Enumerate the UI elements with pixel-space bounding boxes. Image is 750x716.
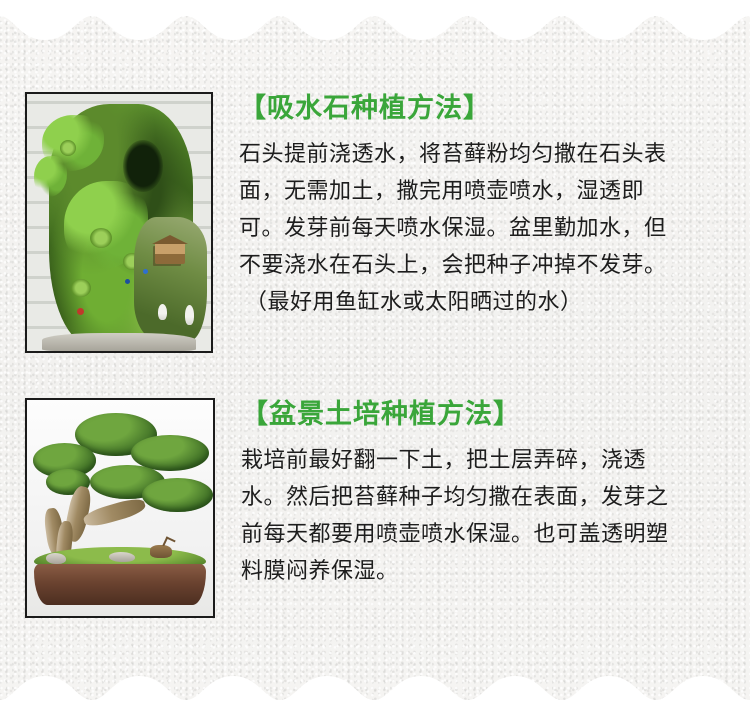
product-detail-page: 【吸水石种植方法】 石头提前浇透水，将苔藓粉均匀撒在石头表 面，无需加土，撒完用… — [0, 0, 750, 716]
miniature-figurine — [158, 304, 167, 320]
section-heading-absorbent-stone: 【吸水石种植方法】 — [239, 92, 725, 126]
section-bonsai-soil: 【盆景土培种植方法】 栽培前最好翻一下土，把土层弄碎，浇透 水。然后把苔藓种子均… — [25, 398, 725, 618]
photo-moss-stone — [25, 92, 213, 353]
body-line: 水。然后把苔藓种子均匀撒在表面，发芽之 — [241, 479, 725, 516]
red-accent-dot — [77, 308, 84, 315]
bonsai-pot — [34, 564, 205, 605]
body-line: （最好用鱼缸水或太阳晒过的水） — [239, 284, 725, 321]
body-line: 前每天都要用喷壶喷水保湿。也可盖透明塑 — [241, 516, 725, 553]
base-tray — [42, 333, 197, 351]
photo-bonsai — [25, 398, 215, 618]
photo-bonsai-content — [27, 400, 213, 616]
photo-moss-stone-content — [27, 94, 211, 351]
decorative-stone — [46, 553, 66, 564]
canopy-pad-right — [142, 478, 213, 513]
section-absorbent-stone: 【吸水石种植方法】 石头提前浇透水，将苔藓粉均匀撒在石头表 面，无需加土，撒完用… — [25, 92, 725, 353]
section-body-absorbent-stone: 石头提前浇透水，将苔藓粉均匀撒在石头表 面，无需加土，撒完用喷壶喷水，湿透即 可… — [239, 136, 725, 321]
section-body-bonsai-soil: 栽培前最好翻一下土，把土层弄碎，浇透 水。然后把苔藓种子均匀撒在表面，发芽之 前… — [241, 442, 725, 590]
body-line: 面，无需加土，撒完用喷壶喷水，湿透即 — [239, 173, 725, 210]
deer-figurine — [150, 545, 172, 558]
body-line: 石头提前浇透水，将苔藓粉均匀撒在石头表 — [239, 136, 725, 173]
text-column-absorbent-stone: 【吸水石种植方法】 石头提前浇透水，将苔藓粉均匀撒在石头表 面，无需加土，撒完用… — [213, 92, 725, 321]
miniature-house-figurine — [155, 242, 185, 264]
text-column-bonsai-soil: 【盆景土培种植方法】 栽培前最好翻一下土，把土层弄碎，浇透 水。然后把苔藓种子均… — [215, 398, 725, 590]
moss-fleck — [90, 228, 112, 248]
body-line: 料膜闷养保湿。 — [241, 553, 725, 590]
body-line: 可。发芽前每天喷水保湿。盆里勤加水，但 — [239, 210, 725, 247]
body-line: 不要浇水在石头上，会把种子冲掉不发芽。 — [239, 247, 725, 284]
decorative-stone — [109, 552, 135, 562]
section-heading-bonsai-soil: 【盆景土培种植方法】 — [241, 398, 725, 432]
body-line: 栽培前最好翻一下土，把土层弄碎，浇透 — [241, 442, 725, 479]
